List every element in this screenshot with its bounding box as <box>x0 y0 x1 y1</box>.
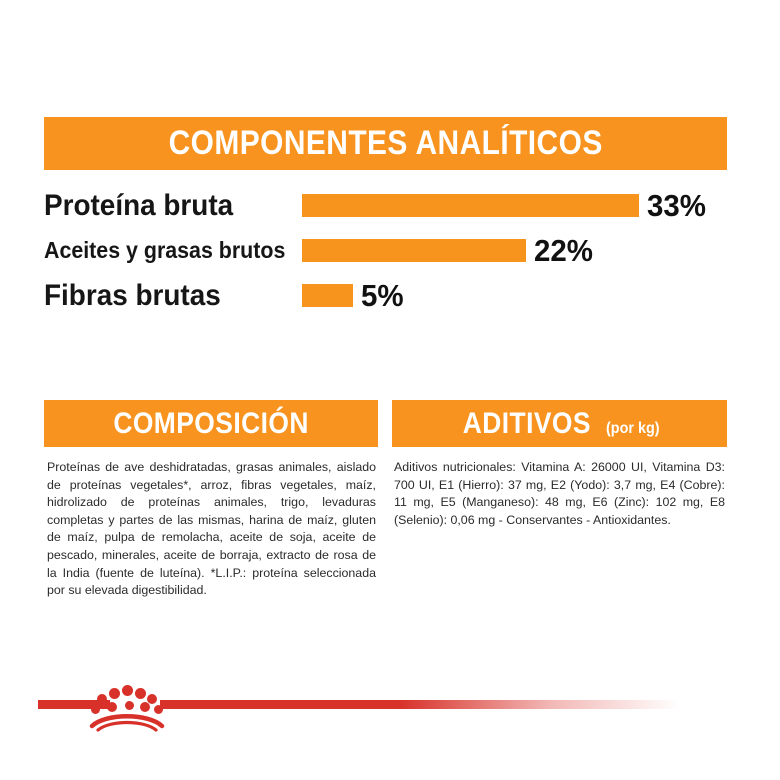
chart-bar-value: 33% <box>647 188 706 224</box>
crown-arc <box>88 680 166 732</box>
chart-bar-value: 22% <box>534 233 593 269</box>
analytical-components-banner: COMPONENTES ANALÍTICOS <box>44 117 727 170</box>
chart-bar-value: 5% <box>361 278 404 314</box>
chart-bar <box>302 284 353 307</box>
chart-bar-wrap: 5% <box>302 273 406 318</box>
additives-banner: ADITIVOS (por kg) <box>392 400 727 447</box>
chart-bar-wrap: 33% <box>302 183 709 228</box>
composition-text-block: Proteínas de ave deshidratadas, grasas a… <box>47 459 376 600</box>
additives-title-group: ADITIVOS (por kg) <box>454 407 665 441</box>
chart-bar-wrap: 22% <box>302 228 596 273</box>
footer-logo <box>0 676 780 746</box>
chart-row: Fibras brutas 5% <box>44 273 744 318</box>
analytical-components-title: COMPONENTES ANALÍTICOS <box>168 124 602 163</box>
composition-banner: COMPOSICIÓN <box>44 400 378 447</box>
chart-row: Aceites y grasas brutos 22% <box>44 228 744 273</box>
chart-row-label: Aceites y grasas brutos <box>44 237 275 264</box>
chart-bar <box>302 239 526 262</box>
additives-title: ADITIVOS <box>463 407 591 441</box>
additives-paragraph: Aditivos nutricionales: Vitamina A: 2600… <box>394 459 725 529</box>
additives-text-block: Aditivos nutricionales: Vitamina A: 2600… <box>394 459 725 529</box>
nutrition-label-page: COMPONENTES ANALÍTICOS Proteína bruta 33… <box>0 0 780 780</box>
chart-row-label: Fibras brutas <box>44 279 275 313</box>
chart-bar <box>302 194 639 217</box>
analytical-components-chart: Proteína bruta 33% Aceites y grasas brut… <box>44 183 744 323</box>
chart-row-label: Proteína bruta <box>44 189 275 223</box>
composition-title: COMPOSICIÓN <box>113 407 309 441</box>
additives-subtitle: (por kg) <box>606 420 660 438</box>
royal-canin-crown-icon <box>88 680 166 732</box>
logo-rule-right <box>160 700 680 709</box>
composition-paragraph: Proteínas de ave deshidratadas, grasas a… <box>47 459 376 600</box>
chart-row: Proteína bruta 33% <box>44 183 744 228</box>
